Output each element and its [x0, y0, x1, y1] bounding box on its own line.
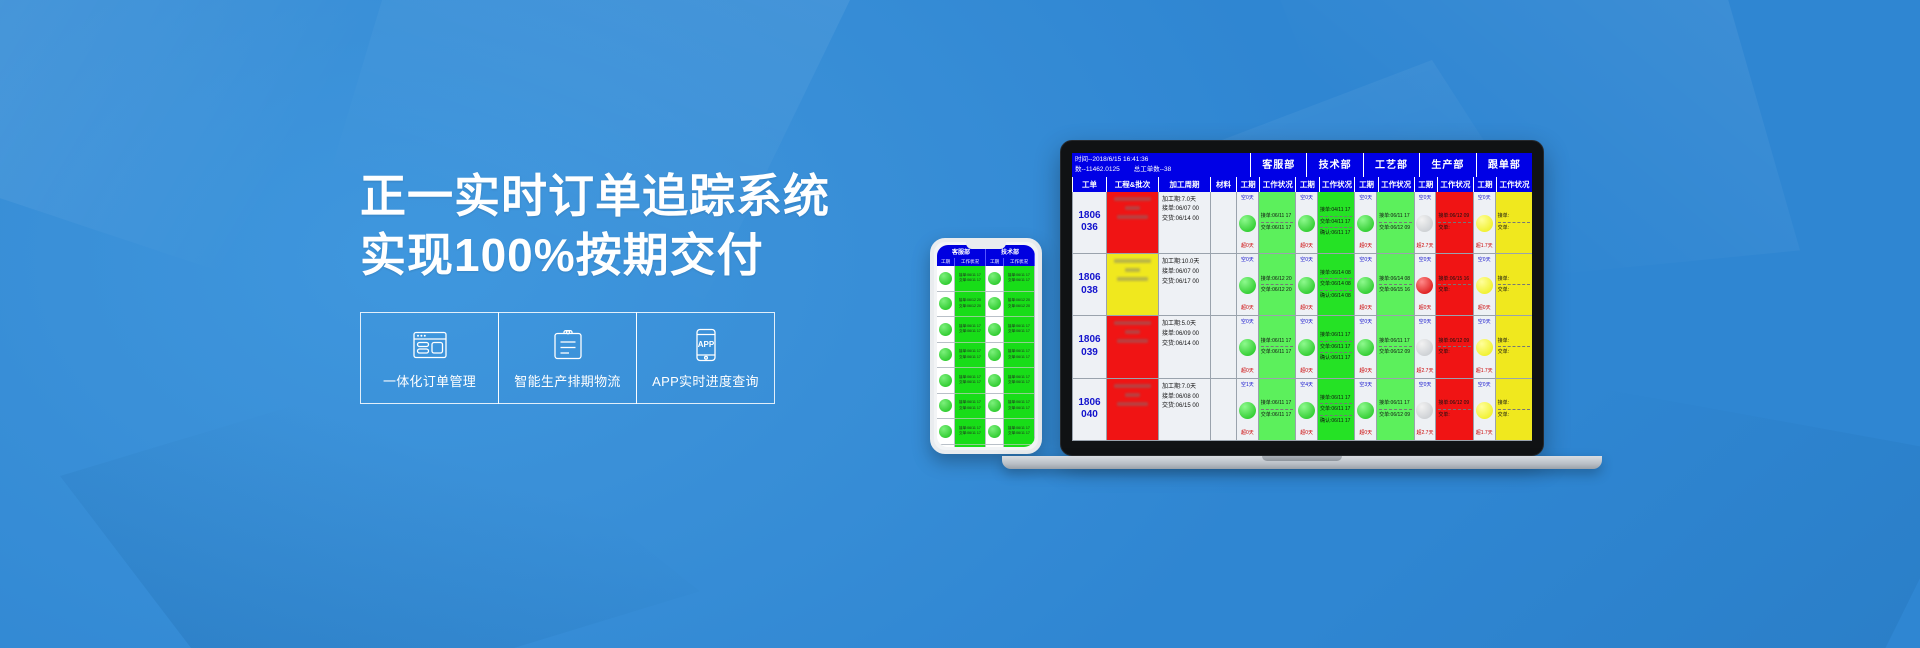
- phone-status-cell[interactable]: [986, 343, 1003, 369]
- status-dot-green: [1357, 215, 1374, 232]
- confirm-timestamp: 确认:06/11 17: [1320, 354, 1352, 363]
- phone-deliver-time: 交单:06/11 17: [1008, 380, 1030, 385]
- status-dot-green: [988, 399, 1001, 412]
- phone-deliver-time: 交单:06/11 17: [1008, 329, 1030, 334]
- feature-item-production-scheduling[interactable]: 智能生产排期物流: [498, 312, 637, 404]
- deliver-timestamp: 交单:06/12 09: [1379, 348, 1411, 357]
- receive-timestamp: 接单:: [1498, 337, 1530, 346]
- department-header-工艺部: 工艺部: [1363, 153, 1419, 177]
- remaining-days: 空0天: [1478, 382, 1491, 389]
- work-order-number: 1806038: [1072, 254, 1106, 315]
- redacted-text: [1114, 197, 1152, 201]
- divider: [1320, 290, 1352, 291]
- work-status-cell-工艺部[interactable]: 接单:06/11 17交单:06/12 09: [1376, 192, 1413, 253]
- phone-deliver-time: 交单:06/11 17: [1008, 431, 1030, 436]
- overdue-days: 超0天: [1359, 243, 1372, 250]
- phone-screen: 客服部 技术部 工期 工作状况 工期 工作状况 接单:06/11 17交单:06…: [937, 245, 1035, 447]
- overdue-days: 超1.7天: [1476, 368, 1493, 375]
- mobile-app-icon: APP: [694, 326, 718, 364]
- order-deliver-date: 交货:06/15 00: [1162, 402, 1207, 412]
- phone-status-cell[interactable]: [937, 368, 954, 394]
- phone-column-duration-cs: [937, 266, 955, 447]
- duration-cell-跟单部[interactable]: 空0天超1.7天: [1473, 316, 1495, 377]
- cycle-duration: 加工期:10.0天: [1162, 258, 1207, 268]
- redacted-text: [1125, 330, 1140, 334]
- overdue-days: 超1.7天: [1476, 243, 1493, 250]
- status-dot-yellow: [1476, 402, 1493, 419]
- department-header-生产部: 生产部: [1419, 153, 1475, 177]
- deliver-timestamp: 交单:06/12 20: [1261, 286, 1293, 295]
- headline-block: 正一实时订单追踪系统 实现100%按期交付 一体化订单管理: [360, 168, 880, 404]
- duration-cell-跟单部[interactable]: 空0天超1.7天: [1473, 379, 1495, 440]
- duration-cell-工艺部[interactable]: 空3天超0天: [1354, 379, 1376, 440]
- cycle-duration: 加工期:7.0天: [1162, 383, 1207, 393]
- headline-line-2: 实现100%按期交付: [360, 227, 880, 284]
- work-status-cell-生产部[interactable]: 接单:06/12 09交单:: [1435, 192, 1472, 253]
- redacted-text: [1125, 268, 1140, 272]
- divider: [1379, 346, 1411, 347]
- work-status-cell-生产部[interactable]: 接单:06/12 09交单:: [1435, 316, 1472, 377]
- phone-status-cell[interactable]: [986, 317, 1003, 343]
- phone-timestamp-cell: 接单:06/11 17交单:06/11 17: [955, 343, 985, 369]
- work-status-cell-工艺部[interactable]: 接单:06/11 17交单:06/12 09: [1376, 379, 1413, 440]
- phone-deliver-time: 交单:06/11 17: [959, 406, 981, 411]
- material-cell: [1210, 254, 1236, 315]
- redacted-text: [1117, 402, 1148, 406]
- status-dot-gray: [1416, 215, 1433, 232]
- redacted-text: [1114, 321, 1152, 325]
- divider: [1320, 415, 1352, 416]
- phone-subheader: 工作状况: [955, 258, 986, 266]
- remaining-days: 空3天: [1359, 382, 1372, 389]
- deliver-timestamp: 交单:: [1438, 286, 1470, 295]
- order-receive-date: 接单:06/07 00: [1162, 205, 1207, 215]
- divider: [1320, 341, 1352, 342]
- phone-deliver-time: 交单:06/11 17: [1008, 278, 1030, 283]
- work-order-number: 1806039: [1072, 316, 1106, 377]
- confirm-timestamp: 确认:06/14 08: [1320, 292, 1352, 301]
- receive-timestamp: 接单:06/14 08: [1320, 269, 1352, 278]
- column-header-工作状况: 工作状况: [1378, 177, 1414, 192]
- overdue-days: 超0天: [1359, 305, 1372, 312]
- phone-mockup: 客服部 技术部 工期 工作状况 工期 工作状况 接单:06/11 17交单:06…: [930, 238, 1042, 454]
- receive-timestamp: 接单:06/11 17: [1320, 331, 1352, 340]
- status-dot-green: [1239, 277, 1256, 294]
- remaining-days: 空0天: [1241, 195, 1254, 202]
- dashboard-header: 时间--2018/6/15 16:41:36 数--11462.0125 总工单…: [1072, 153, 1532, 177]
- remaining-days: 空4天: [1300, 382, 1313, 389]
- table-row[interactable]: 1806038加工期:10.0天接单:06/07 00交货:06/17 00空0…: [1072, 254, 1532, 316]
- receive-timestamp: 接单:06/11 17: [1379, 399, 1411, 408]
- status-dot-yellow: [1476, 277, 1493, 294]
- phone-status-cell[interactable]: [937, 266, 954, 292]
- order-receive-date: 接单:06/07 00: [1162, 268, 1207, 278]
- receive-timestamp: 接单:06/15 16: [1438, 275, 1470, 284]
- clipboard-icon: [553, 326, 583, 364]
- browser-window-icon: [413, 326, 447, 364]
- divider: [1261, 409, 1293, 410]
- material-cell: [1210, 316, 1236, 377]
- feature-label: 智能生产排期物流: [514, 371, 620, 390]
- divider: [1498, 346, 1530, 347]
- overdue-days: 超2.7天: [1417, 243, 1434, 250]
- remaining-days: 空0天: [1419, 382, 1432, 389]
- table-row[interactable]: 1806039加工期:5.0天接单:06/09 00交货:06/14 00空0天…: [1072, 316, 1532, 378]
- phone-timestamp-cell: 接单:06/12 20交单:06/12 20: [955, 292, 985, 318]
- receive-timestamp: 接单:06/11 17: [1261, 337, 1293, 346]
- deliver-timestamp: 交单:: [1498, 286, 1530, 295]
- material-cell: [1210, 379, 1236, 440]
- remaining-days: 空0天: [1359, 257, 1372, 264]
- duration-cell-生产部[interactable]: 空0天超0天: [1414, 254, 1436, 315]
- order-receive-date: 接单:06/09 00: [1162, 330, 1207, 340]
- phone-status-cell[interactable]: [937, 317, 954, 343]
- remaining-days: 空0天: [1478, 319, 1491, 326]
- status-dot-green: [988, 323, 1001, 336]
- phone-status-cell[interactable]: [986, 266, 1003, 292]
- status-dot-green: [939, 348, 952, 361]
- promo-banner: 正一实时订单追踪系统 实现100%按期交付 一体化订单管理: [0, 0, 1920, 648]
- status-dot-green: [1298, 402, 1315, 419]
- phone-deliver-time: 交单:06/11 17: [959, 380, 981, 385]
- divider: [1320, 352, 1352, 353]
- work-status-cell-跟单部[interactable]: 接单:交单:: [1495, 192, 1532, 253]
- status-dot-green: [939, 399, 952, 412]
- headline-line-1: 正一实时订单追踪系统: [360, 168, 880, 225]
- divider: [1261, 222, 1293, 223]
- overdue-days: 超2.7天: [1417, 430, 1434, 437]
- divider: [1438, 222, 1470, 223]
- feature-label: 一体化订单管理: [383, 371, 476, 390]
- status-dot-green: [939, 323, 952, 336]
- remaining-days: 空0天: [1478, 195, 1491, 202]
- column-header-加工周期: 加工周期: [1158, 177, 1210, 192]
- duration-cell-客服部[interactable]: 空0天超0天: [1236, 254, 1258, 315]
- material-cell: [1210, 192, 1236, 253]
- duration-cell-技术部[interactable]: 空0天超0天: [1295, 254, 1317, 315]
- overdue-days: 超0天: [1359, 368, 1372, 375]
- work-status-cell-技术部[interactable]: 接单:04/11 17交单:04/11 17确认:06/11 17: [1317, 192, 1354, 253]
- feature-item-app-progress-query[interactable]: APP APP实时进度查询: [636, 312, 775, 404]
- redacted-text: [1114, 384, 1152, 388]
- duration-cell-生产部[interactable]: 空0天超2.7天: [1414, 316, 1436, 377]
- receive-timestamp: 接单:04/11 17: [1320, 206, 1352, 215]
- duration-cell-工艺部[interactable]: 空0天超0天: [1354, 316, 1376, 377]
- divider: [1498, 409, 1530, 410]
- order-deliver-date: 交货:06/14 00: [1162, 340, 1207, 350]
- department-header-跟单部: 跟单部: [1476, 153, 1532, 177]
- work-status-cell-跟单部[interactable]: 接单:交单:: [1495, 254, 1532, 315]
- deliver-timestamp: 交单:: [1438, 348, 1470, 357]
- divider: [1320, 227, 1352, 228]
- receive-timestamp: 接单:: [1498, 399, 1530, 408]
- phone-deliver-time: 交单:06/12 20: [959, 304, 981, 309]
- divider: [1261, 346, 1293, 347]
- processing-cycle-cell: 加工期:5.0天接单:06/09 00交货:06/14 00: [1158, 316, 1210, 377]
- overdue-days: 超0天: [1241, 430, 1254, 437]
- status-dot-green: [939, 297, 952, 310]
- receive-timestamp: 接单:06/11 17: [1261, 212, 1293, 221]
- deliver-timestamp: 交单:: [1498, 348, 1530, 357]
- duration-cell-客服部[interactable]: 空0天超0天: [1236, 316, 1258, 377]
- receive-timestamp: 接单:06/11 17: [1320, 394, 1352, 403]
- duration-cell-生产部[interactable]: 空0天超2.7天: [1414, 379, 1436, 440]
- status-dot-green: [988, 272, 1001, 285]
- phone-timestamp-cell: 接单:06/11 17交单:06/11 17: [1004, 317, 1034, 343]
- work-status-cell-技术部[interactable]: 接单:06/11 17交单:06/11 17确认:06/11 17: [1317, 379, 1354, 440]
- phone-status-cell[interactable]: [937, 419, 954, 445]
- remaining-days: 空1天: [1241, 382, 1254, 389]
- overdue-days: 超0天: [1241, 243, 1254, 250]
- feature-item-order-management[interactable]: 一体化订单管理: [360, 312, 499, 404]
- column-header-工期: 工期: [1354, 177, 1377, 192]
- divider: [1320, 216, 1352, 217]
- overdue-days: 超0天: [1241, 368, 1254, 375]
- work-status-cell-技术部[interactable]: 接单:06/11 17交单:06/11 17确认:06/11 17: [1317, 316, 1354, 377]
- overdue-days: 超1.7天: [1476, 430, 1493, 437]
- order-deliver-date: 交货:06/14 00: [1162, 215, 1207, 225]
- status-dot-green: [939, 272, 952, 285]
- work-status-cell-生产部[interactable]: 接单:06/12 09交单:: [1435, 379, 1472, 440]
- overdue-days: 超0天: [1300, 305, 1313, 312]
- phone-deliver-time: 交单:06/11 17: [959, 355, 981, 360]
- phone-column-duration-tech: [986, 266, 1004, 447]
- deliver-timestamp: 交单:: [1438, 411, 1470, 420]
- divider: [1438, 409, 1470, 410]
- receive-timestamp: 接单:06/11 17: [1261, 399, 1293, 408]
- overdue-days: 超0天: [1300, 243, 1313, 250]
- remaining-days: 空0天: [1300, 319, 1313, 326]
- phone-timestamp-cell: 接单:06/11 17交单:06/11 17: [1004, 266, 1034, 292]
- duration-cell-工艺部[interactable]: 空0天超0天: [1354, 254, 1376, 315]
- overdue-days: 超0天: [1300, 430, 1313, 437]
- overdue-days: 超0天: [1300, 368, 1313, 375]
- dashboard-meta: 时间--2018/6/15 16:41:36 数--11462.0125 总工单…: [1072, 153, 1250, 177]
- order-deliver-date: 交货:06/17 00: [1162, 278, 1207, 288]
- column-header-材料: 材料: [1210, 177, 1236, 192]
- receive-timestamp: 接单:: [1498, 275, 1530, 284]
- phone-deliver-time: 交单:06/11 17: [959, 329, 981, 334]
- work-status-cell-客服部[interactable]: 接单:06/12 20交单:06/12 20: [1258, 254, 1295, 315]
- confirm-timestamp: 确认:06/11 17: [1320, 229, 1352, 238]
- processing-cycle-cell: 加工期:7.0天接单:06/07 00交货:06/14 00: [1158, 192, 1210, 253]
- status-dot-green: [988, 374, 1001, 387]
- deliver-timestamp: 交单:06/11 17: [1261, 224, 1293, 233]
- work-status-cell-生产部[interactable]: 接单:06/15 16交单:: [1435, 254, 1472, 315]
- divider: [1379, 409, 1411, 410]
- status-dot-green: [939, 425, 952, 438]
- divider: [1320, 278, 1352, 279]
- column-header-工作状况: 工作状况: [1319, 177, 1355, 192]
- receive-timestamp: 接单:06/12 09: [1438, 399, 1470, 408]
- overdue-days: 超0天: [1359, 430, 1372, 437]
- column-header-工程&批次: 工程&批次: [1106, 177, 1158, 192]
- divider: [1379, 284, 1411, 285]
- deliver-timestamp: 交单:06/12 09: [1379, 224, 1411, 233]
- phone-timestamp-cell: 接单:06/11 17交单:06/11 17: [1004, 419, 1034, 445]
- work-status-cell-工艺部[interactable]: 接单:06/11 17交单:06/12 09: [1376, 316, 1413, 377]
- duration-cell-跟单部[interactable]: 空0天超1.7天: [1473, 192, 1495, 253]
- phone-status-grid: 接单:06/11 17交单:06/11 17接单:06/12 20交单:06/1…: [937, 266, 1035, 447]
- phone-timestamp-cell: 接单:06/11 17交单:06/11 17: [1004, 343, 1034, 369]
- column-header-row: 工单工程&批次加工周期材料工期工作状况工期工作状况工期工作状况工期工作状况工期工…: [1072, 177, 1532, 192]
- status-dot-yellow: [1476, 215, 1493, 232]
- work-order-number: 1806040: [1072, 379, 1106, 440]
- column-header-工单: 工单: [1072, 177, 1106, 192]
- project-batch-cell: [1106, 254, 1158, 315]
- duration-cell-技术部[interactable]: 空4天超0天: [1295, 379, 1317, 440]
- remaining-days: 空0天: [1359, 319, 1372, 326]
- remaining-days: 空0天: [1419, 195, 1432, 202]
- processing-cycle-cell: 加工期:7.0天接单:06/08 00交货:06/15 00: [1158, 379, 1210, 440]
- divider: [1261, 284, 1293, 285]
- column-header-工作状况: 工作状况: [1437, 177, 1473, 192]
- phone-subheader: 工期: [986, 258, 1004, 266]
- remaining-days: 空0天: [1359, 195, 1372, 202]
- phone-status-cell[interactable]: [937, 394, 954, 420]
- status-dot-green: [939, 374, 952, 387]
- duration-cell-客服部[interactable]: 空0天超0天: [1236, 192, 1258, 253]
- receive-timestamp: 接单:06/11 17: [1379, 337, 1411, 346]
- phone-deliver-time: 交单:06/12 20: [1008, 304, 1030, 309]
- feature-label: APP实时进度查询: [652, 371, 759, 390]
- column-header-工期: 工期: [1473, 177, 1496, 192]
- table-row[interactable]: 1806040加工期:7.0天接单:06/08 00交货:06/15 00空1天…: [1072, 379, 1532, 441]
- redacted-text: [1117, 215, 1148, 219]
- duration-cell-跟单部[interactable]: 空0天超0天: [1473, 254, 1495, 315]
- phone-deliver-time: 交单:06/11 17: [1008, 355, 1030, 360]
- redacted-text: [1125, 393, 1140, 397]
- divider: [1320, 403, 1352, 404]
- status-dot-green: [1239, 339, 1256, 356]
- duration-cell-技术部[interactable]: 空0天超0天: [1295, 316, 1317, 377]
- phone-status-cell[interactable]: [937, 343, 954, 369]
- project-batch-cell: [1106, 192, 1158, 253]
- department-header-row: 客服部技术部工艺部生产部跟单部: [1250, 153, 1532, 177]
- phone-timestamp-cell: 接单:06/11 17交单:06/11 17: [1004, 368, 1034, 394]
- redacted-text: [1117, 339, 1148, 343]
- project-batch-cell: [1106, 316, 1158, 377]
- phone-timestamp-cell: 接单:06/11 17交单:06/11 17: [955, 394, 985, 420]
- duration-cell-技术部[interactable]: 空0天超0天: [1295, 192, 1317, 253]
- dashboard-number: 数--11462.0125: [1075, 165, 1120, 175]
- redacted-text: [1117, 277, 1148, 281]
- status-dot-gray: [1416, 402, 1433, 419]
- remaining-days: 空0天: [1300, 195, 1313, 202]
- status-dot-green: [1357, 402, 1374, 419]
- laptop-base: [1002, 456, 1602, 469]
- duration-cell-客服部[interactable]: 空1天超0天: [1236, 379, 1258, 440]
- phone-timestamp-cell: 接单:06/11 17交单:06/11 17: [1004, 394, 1034, 420]
- phone-timestamp-cell: 接单:06/11 17交单:06/11 17: [955, 419, 985, 445]
- receive-timestamp: 接单:06/11 17: [1379, 212, 1411, 221]
- deliver-timestamp: 交单:04/11 17: [1320, 218, 1352, 227]
- phone-status-cell[interactable]: [937, 292, 954, 318]
- divider: [1438, 284, 1470, 285]
- column-header-工期: 工期: [1295, 177, 1318, 192]
- status-dot-green: [1298, 339, 1315, 356]
- status-dot-green: [1357, 339, 1374, 356]
- divider: [1498, 284, 1530, 285]
- overdue-days: 超0天: [1419, 305, 1432, 312]
- phone-deliver-time: 交单:06/11 17: [959, 278, 981, 283]
- dashboard-total-orders: 总工单数--38: [1134, 165, 1172, 175]
- receive-timestamp: 接单:06/12 20: [1261, 275, 1293, 284]
- deliver-timestamp: 交单:06/11 17: [1320, 343, 1352, 352]
- phone-status-cell[interactable]: [986, 419, 1003, 445]
- receive-timestamp: 接单:06/12 09: [1438, 337, 1470, 346]
- phone-status-cell[interactable]: [986, 394, 1003, 420]
- work-status-cell-客服部[interactable]: 接单:06/11 17交单:06/11 17: [1258, 379, 1295, 440]
- overdue-days: 超2.7天: [1417, 368, 1434, 375]
- department-header-技术部: 技术部: [1306, 153, 1362, 177]
- phone-notch: [966, 242, 1006, 249]
- phone-subheader: 工作状况: [1004, 258, 1035, 266]
- divider: [1498, 222, 1530, 223]
- deliver-timestamp: 交单:06/14 08: [1320, 280, 1352, 289]
- duration-cell-生产部[interactable]: 空0天超2.7天: [1414, 192, 1436, 253]
- laptop-mockup: 时间--2018/6/15 16:41:36 数--11462.0125 总工单…: [1060, 140, 1602, 469]
- deliver-timestamp: 交单:: [1498, 224, 1530, 233]
- duration-cell-工艺部[interactable]: 空0天超0天: [1354, 192, 1376, 253]
- receive-timestamp: 接单:06/12 09: [1438, 212, 1470, 221]
- table-row[interactable]: 1806036加工期:7.0天接单:06/07 00交货:06/14 00空0天…: [1072, 192, 1532, 254]
- background-facet: [60, 368, 700, 648]
- status-dot-green: [1298, 215, 1315, 232]
- status-dot-green: [988, 348, 1001, 361]
- phone-timestamp-cell: 接单:06/11 17交单:06/11 17: [955, 368, 985, 394]
- phone-subheader: 工期: [937, 258, 955, 266]
- work-status-cell-客服部[interactable]: 接单:06/11 17交单:06/11 17: [1258, 316, 1295, 377]
- svg-text:APP: APP: [697, 340, 714, 349]
- work-status-cell-跟单部[interactable]: 接单:交单:: [1495, 379, 1532, 440]
- work-status-cell-跟单部[interactable]: 接单:交单:: [1495, 316, 1532, 377]
- dashboard-time: 时间--2018/6/15 16:41:36: [1075, 155, 1148, 165]
- deliver-timestamp: 交单:06/11 17: [1320, 405, 1352, 414]
- phone-status-cell[interactable]: [986, 368, 1003, 394]
- deliver-timestamp: 交单:: [1498, 411, 1530, 420]
- status-dot-green: [1357, 277, 1374, 294]
- work-status-cell-技术部[interactable]: 接单:06/14 08交单:06/14 08确认:06/14 08: [1317, 254, 1354, 315]
- deliver-timestamp: 交单:06/12 09: [1379, 411, 1411, 420]
- divider: [1379, 222, 1411, 223]
- cycle-duration: 加工期:5.0天: [1162, 320, 1207, 330]
- redacted-text: [1125, 206, 1140, 210]
- work-status-cell-工艺部[interactable]: 接单:06/14 08交单:06/15 16: [1376, 254, 1413, 315]
- dashboard-rows: 1806036加工期:7.0天接单:06/07 00交货:06/14 00空0天…: [1072, 192, 1532, 442]
- column-header-工作状况: 工作状况: [1496, 177, 1532, 192]
- work-status-cell-客服部[interactable]: 接单:06/11 17交单:06/11 17: [1258, 192, 1295, 253]
- phone-timestamp-cell: 接单:06/12 20交单:06/12 20: [1004, 292, 1034, 318]
- cycle-duration: 加工期:7.0天: [1162, 196, 1207, 206]
- remaining-days: 空0天: [1478, 257, 1491, 264]
- phone-column-status-cs: 接单:06/11 17交单:06/11 17接单:06/12 20交单:06/1…: [955, 266, 986, 447]
- divider: [1438, 346, 1470, 347]
- receive-timestamp: 接单:: [1498, 212, 1530, 221]
- column-header-工作状况: 工作状况: [1259, 177, 1295, 192]
- status-dot-green: [1239, 402, 1256, 419]
- phone-subheader-row: 工期 工作状况 工期 工作状况: [937, 258, 1035, 266]
- remaining-days: 空0天: [1241, 319, 1254, 326]
- phone-status-cell[interactable]: [986, 292, 1003, 318]
- remaining-days: 空0天: [1419, 257, 1432, 264]
- status-dot-green: [988, 297, 1001, 310]
- overdue-days: 超0天: [1241, 305, 1254, 312]
- column-header-工期: 工期: [1414, 177, 1437, 192]
- deliver-timestamp: 交单:: [1438, 224, 1470, 233]
- phone-deliver-time: 交单:06/11 17: [1008, 406, 1030, 411]
- status-dot-red: [1416, 277, 1433, 294]
